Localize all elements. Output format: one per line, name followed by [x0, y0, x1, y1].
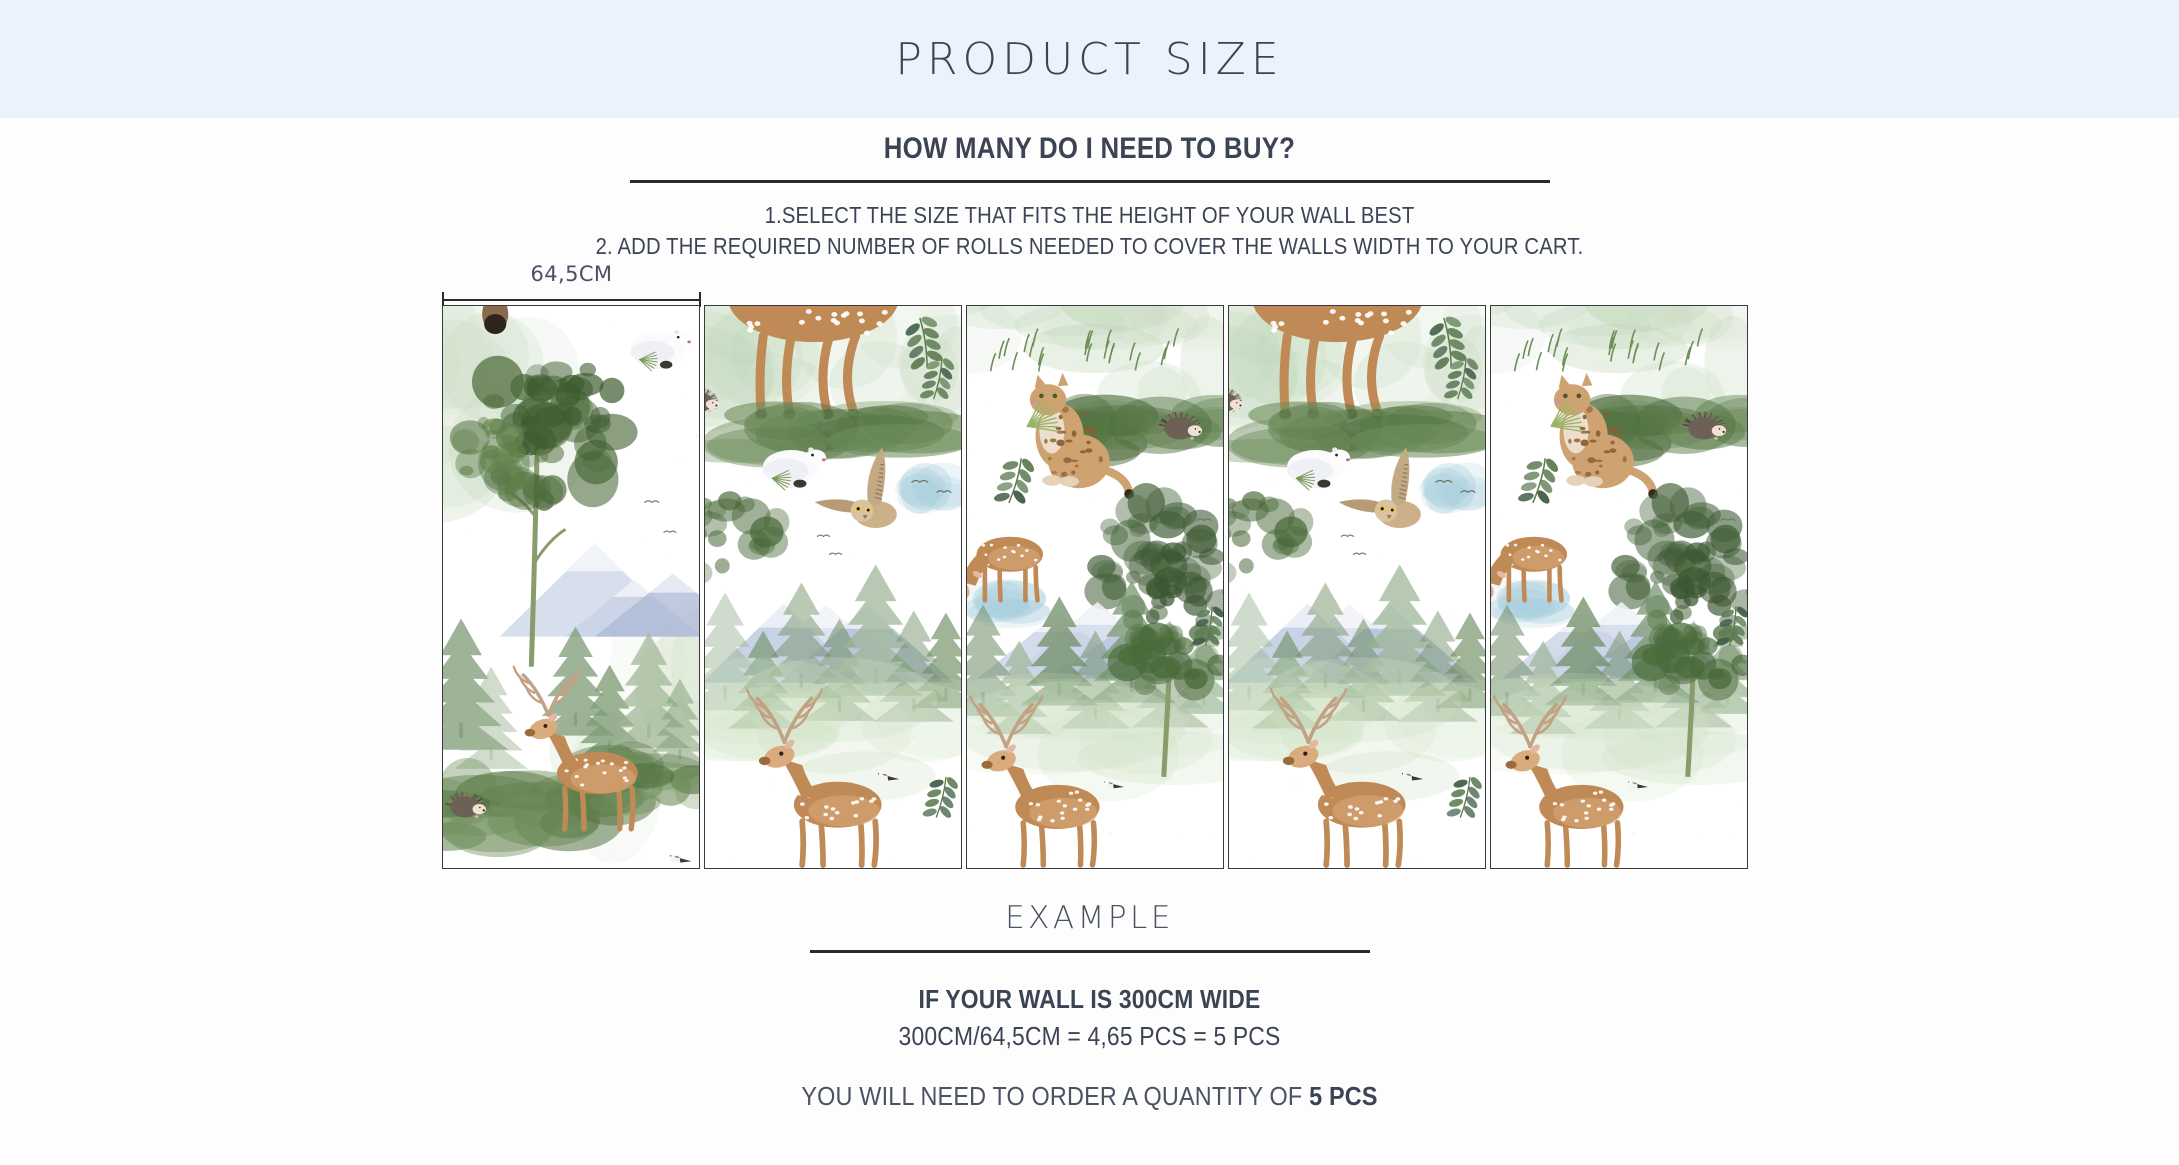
example-wall-width: IF YOUR WALL IS 300CM WIDE	[131, 981, 2049, 1018]
intro-steps: 1.SELECT THE SIZE THAT FITS THE HEIGHT O…	[0, 200, 2179, 262]
example-result-prefix: YOU WILL NEED TO ORDER A QUANTITY OF	[801, 1081, 1309, 1111]
intro-step-1: 1.SELECT THE SIZE THAT FITS THE HEIGHT O…	[131, 200, 2049, 231]
example-title: EXAMPLE	[0, 900, 2179, 936]
example-calculation: IF YOUR WALL IS 300CM WIDE 300CM/64,5CM …	[0, 981, 2179, 1055]
example-section: EXAMPLE IF YOUR WALL IS 300CM WIDE 300CM…	[0, 900, 2179, 1112]
wallpaper-panel[interactable]	[704, 305, 962, 869]
intro-section: HOW MANY DO I NEED TO BUY? 1.SELECT THE …	[0, 132, 2179, 262]
example-divider	[810, 950, 1370, 953]
dimension-line	[442, 299, 701, 301]
wallpaper-panel[interactable]	[966, 305, 1224, 869]
example-result: YOU WILL NEED TO ORDER A QUANTITY OF 5 P…	[109, 1081, 2070, 1112]
example-result-quantity: 5 PCS	[1309, 1081, 1378, 1111]
wallpaper-panel[interactable]	[1228, 305, 1486, 869]
page-title: PRODUCT SIZE	[895, 34, 1283, 85]
measurement-indicator: 64,5CM	[442, 262, 701, 306]
wallpaper-panel[interactable]	[1490, 305, 1748, 869]
product-size-page: PRODUCT SIZE HOW MANY DO I NEED TO BUY? …	[0, 0, 2179, 1165]
dimension-bar-icon	[442, 292, 701, 306]
intro-heading: HOW MANY DO I NEED TO BUY?	[153, 132, 2027, 166]
measurement-label: 64,5CM	[442, 262, 701, 286]
page-header-band: PRODUCT SIZE	[0, 0, 2179, 118]
intro-step-2: 2. ADD THE REQUIRED NUMBER OF ROLLS NEED…	[131, 231, 2049, 262]
wallpaper-panel-strip	[442, 305, 1748, 869]
example-formula: 300CM/64,5CM = 4,65 PCS = 5 PCS	[131, 1018, 2049, 1055]
intro-divider	[630, 180, 1550, 183]
wallpaper-panel[interactable]	[442, 305, 700, 869]
